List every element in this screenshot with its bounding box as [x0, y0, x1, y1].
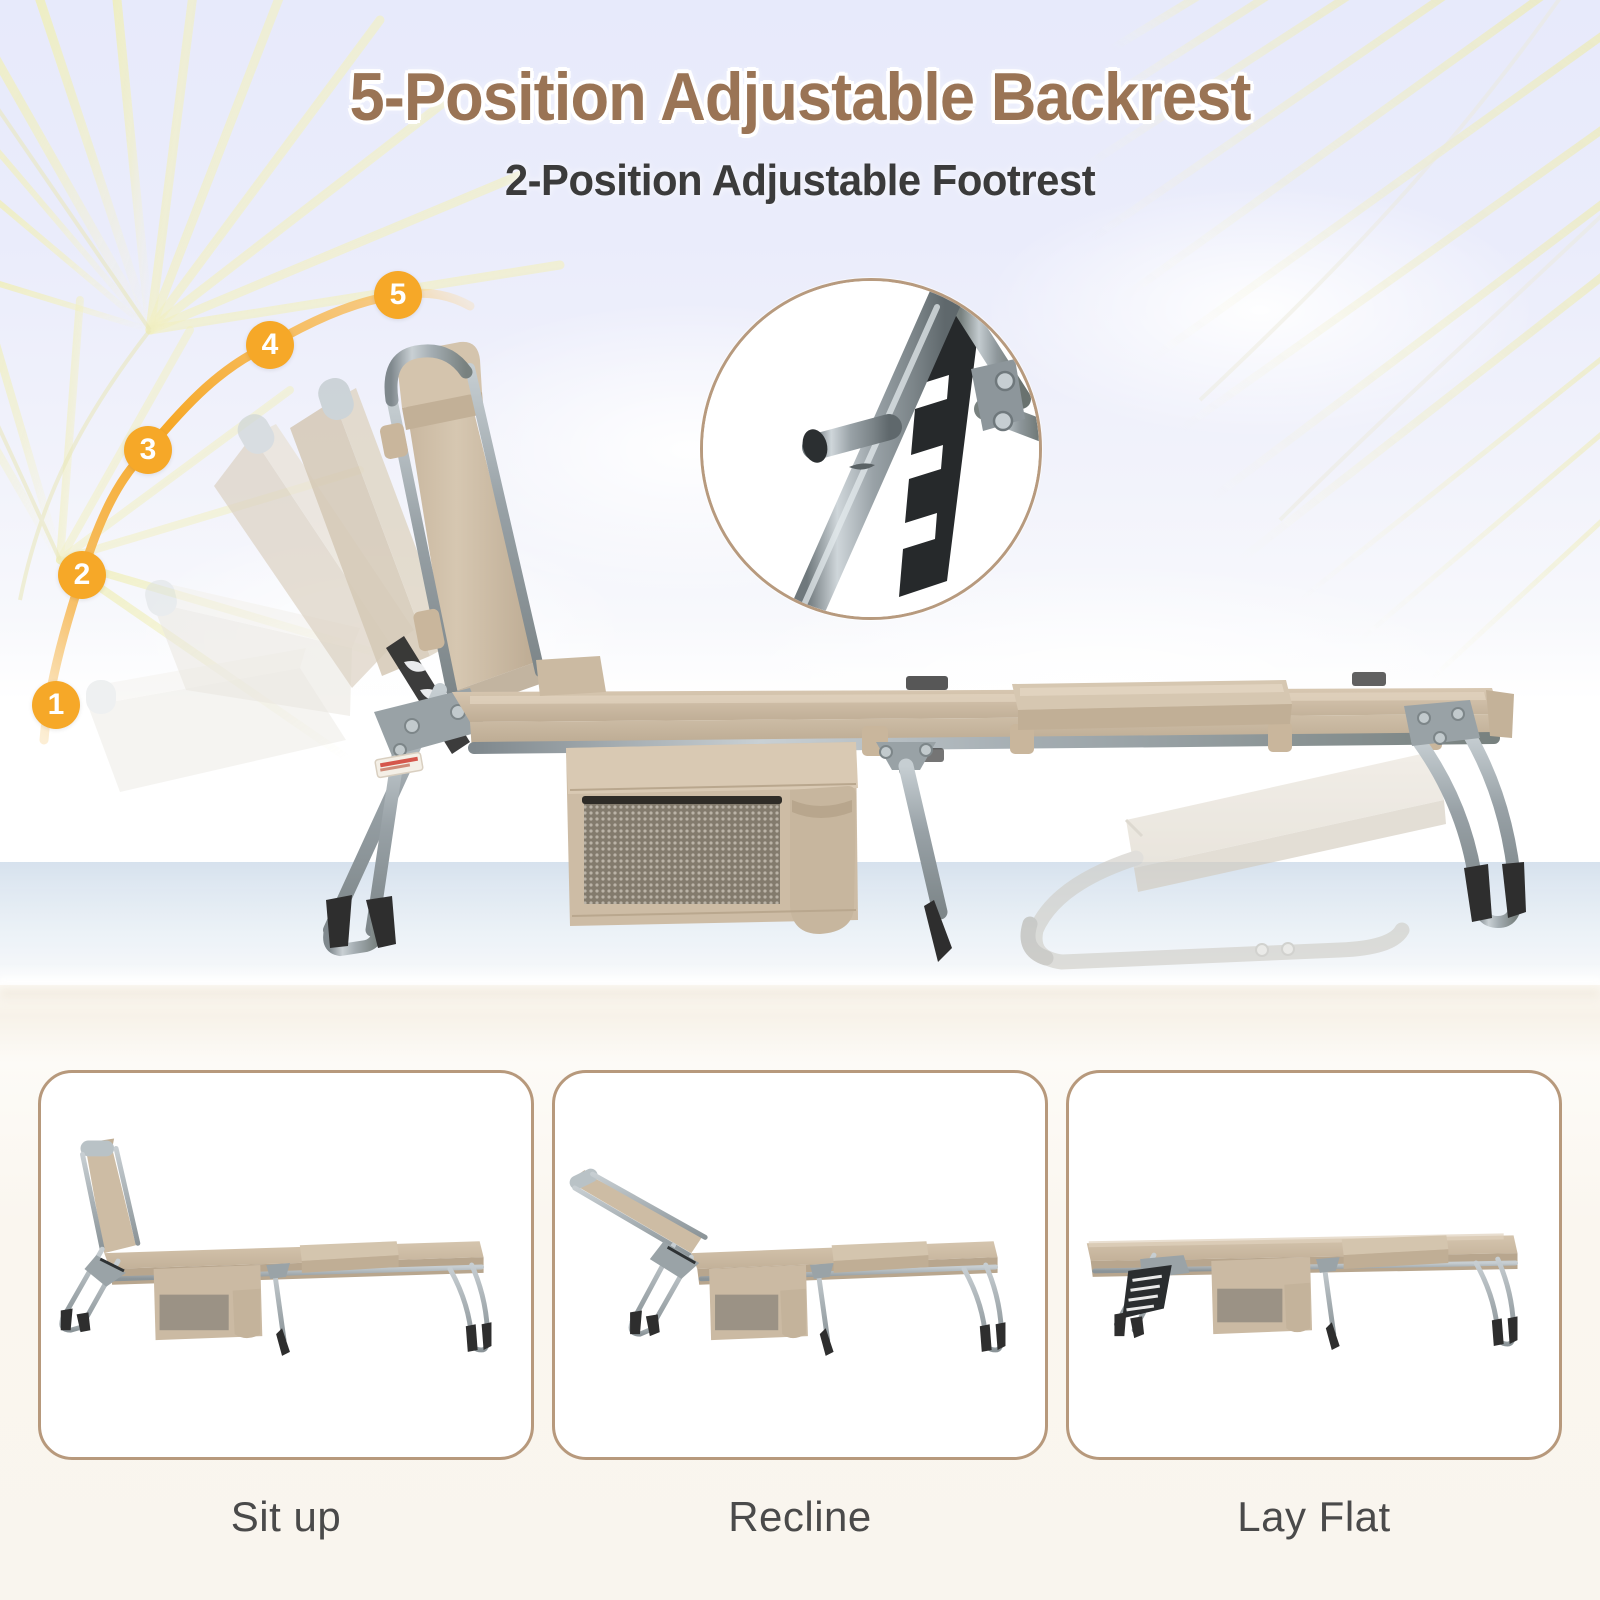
- panel-label-lay-flat: Lay Flat: [1066, 1474, 1562, 1574]
- chair-recline-illustration: [555, 1073, 1045, 1457]
- position-badge-2[interactable]: 2: [58, 551, 106, 599]
- mode-panels-section: Sit up Recline Lay Flat: [0, 1062, 1600, 1600]
- panel-label-sit-up: Sit up: [38, 1474, 534, 1574]
- position-badge-1[interactable]: 1: [32, 681, 80, 729]
- panel-sit-up[interactable]: [38, 1070, 534, 1460]
- panel-lay-flat[interactable]: [1066, 1070, 1562, 1460]
- mode-label-row: Sit up Recline Lay Flat: [38, 1474, 1562, 1574]
- position-badge-4[interactable]: 4: [246, 321, 294, 369]
- infographic-canvas: 5-Position Adjustable Backrest 2-Positio…: [0, 0, 1600, 1600]
- position-badge-3[interactable]: 3: [124, 426, 172, 474]
- mode-panel-row: [38, 1070, 1562, 1460]
- panel-label-recline: Recline: [552, 1474, 1048, 1574]
- position-badge-5[interactable]: 5: [374, 271, 422, 319]
- panel-recline[interactable]: [552, 1070, 1048, 1460]
- chair-lay-flat-illustration: [1069, 1073, 1559, 1457]
- ratchet-detail-inset: [700, 278, 1042, 620]
- chair-sit-up-illustration: [41, 1073, 531, 1457]
